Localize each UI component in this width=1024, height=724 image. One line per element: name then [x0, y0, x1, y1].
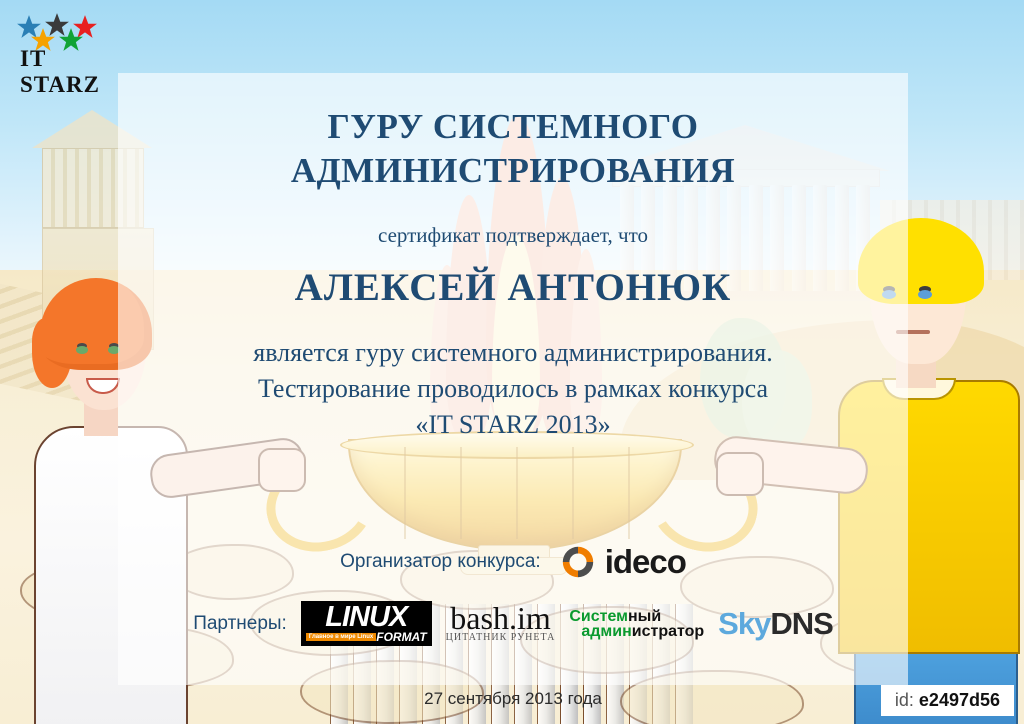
partners-row: Партнеры: LINUX Главное в мире Linux FOR… [118, 601, 908, 646]
sysadmin-word-4: истратор [632, 623, 704, 640]
linux-format-format-word: FORMAT [376, 630, 426, 644]
partner-logo-linux-format: LINUX Главное в мире Linux FORMAT [301, 601, 432, 646]
skydns-word-dns: DNS [770, 606, 832, 641]
organizer-label: Организатор конкурса: [340, 551, 541, 573]
certificate-canvas: IT STARZ ГУРУ СИСТЕМНОГО АДМИНИСТРИРОВАН… [0, 0, 1024, 724]
recipient-name: АЛЕКСЕЙ АНТОНЮК [118, 265, 908, 310]
certificate-id-badge: id: e2497d56 [881, 685, 1014, 716]
bash-im-word: bash.im [446, 604, 556, 632]
body-line-2: Тестирование проводилось в рамках конкур… [118, 371, 908, 407]
it-starz-logo: IT STARZ [14, 12, 114, 76]
certificate-title: ГУРУ СИСТЕМНОГО АДМИНИСТРИРОВАНИЯ [118, 105, 908, 193]
sysadmin-word-3: админ [581, 623, 631, 640]
id-label: id: [895, 690, 914, 710]
linux-format-word: LINUX [306, 604, 427, 630]
certificate-date: 27 сентября 2013 года [118, 689, 908, 709]
partners-label: Партнеры: [193, 613, 287, 635]
ideco-wordmark: ideco [605, 543, 686, 581]
id-value: e2497d56 [919, 690, 1000, 710]
partner-logo-sysadmin: Системный администратор [569, 609, 704, 639]
partner-logo-bash-im: bash.im ЦИТАТНИК РУНЕТА [446, 604, 556, 643]
ideco-logo: ideco [559, 543, 686, 581]
skydns-word-sky: Sky [718, 606, 770, 641]
certificate-subtitle: сертификат подтверждает, что [118, 223, 908, 248]
body-line-1: является гуру системного администрирован… [118, 335, 908, 371]
partner-logo-skydns: SkyDNS [718, 606, 833, 642]
organizer-row: Организатор конкурса: ideco [118, 543, 908, 581]
woman-eye-left [76, 346, 88, 354]
logo-stars [14, 12, 114, 44]
ideco-swoosh-icon [559, 543, 597, 581]
title-line-1: ГУРУ СИСТЕМНОГО [118, 105, 908, 149]
title-line-2: АДМИНИСТРИРОВАНИЯ [118, 149, 908, 193]
logo-brand-text: IT STARZ [20, 46, 114, 98]
bash-im-tagline: ЦИТАТНИК РУНЕТА [446, 632, 556, 643]
certificate-content: ГУРУ СИСТЕМНОГО АДМИНИСТРИРОВАНИЯ сертиф… [118, 73, 908, 685]
certificate-body: является гуру системного администрирован… [118, 335, 908, 443]
event-name: «IT STARZ 2013» [118, 407, 908, 443]
man-eye-right [918, 290, 932, 299]
linux-format-tagline: Главное в мире Linux [306, 633, 376, 641]
